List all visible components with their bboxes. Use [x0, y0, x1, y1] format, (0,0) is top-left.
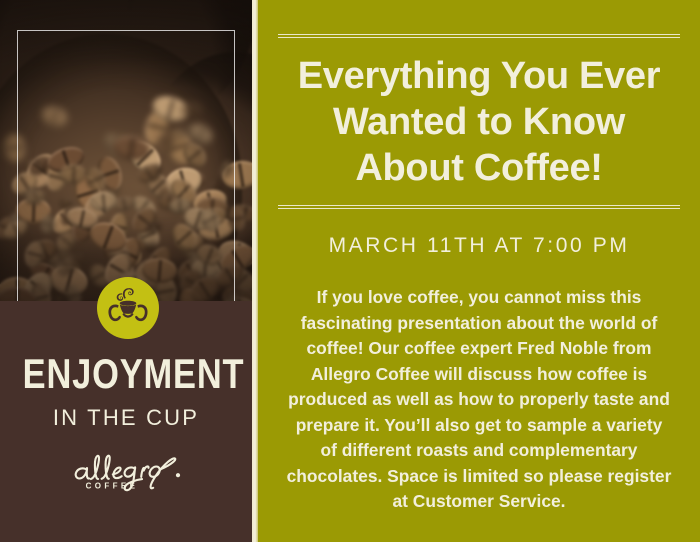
tagline-block: ENJOYMENT IN THE CUP	[0, 352, 252, 431]
cup-badge	[97, 277, 159, 339]
event-date: MARCH 11TH AT 7:00 PM	[276, 234, 682, 258]
coffee-event-flyer: ENJOYMENT IN THE CUP	[0, 0, 700, 542]
allegro-period-dot	[176, 473, 180, 477]
rule-below-headline	[278, 204, 680, 211]
right-panel: Everything You Ever Wanted to Know About…	[258, 0, 700, 542]
tagline-sub: IN THE CUP	[0, 405, 252, 431]
headline-line-2: Wanted to Know	[333, 101, 625, 143]
photo-vignette	[0, 0, 252, 301]
headline-line-3: About Coffee!	[355, 147, 602, 189]
hands-holding-steaming-cup-icon	[104, 284, 152, 332]
coffee-beans-photo	[0, 0, 252, 301]
allegro-subtitle: COFFEE	[86, 482, 139, 491]
headline-line-1: Everything You Ever	[298, 55, 660, 97]
tagline-main: ENJOYMENT	[23, 352, 230, 396]
event-description: If you love coffee, you cannot miss this…	[286, 285, 672, 515]
rule-above-headline	[278, 33, 680, 40]
allegro-coffee-logo: COFFEE	[0, 443, 252, 495]
page-title: Everything You Ever Wanted to Know About…	[276, 53, 682, 191]
left-panel: ENJOYMENT IN THE CUP	[0, 0, 252, 542]
allegro-wordmark-icon: COFFEE	[66, 443, 186, 495]
